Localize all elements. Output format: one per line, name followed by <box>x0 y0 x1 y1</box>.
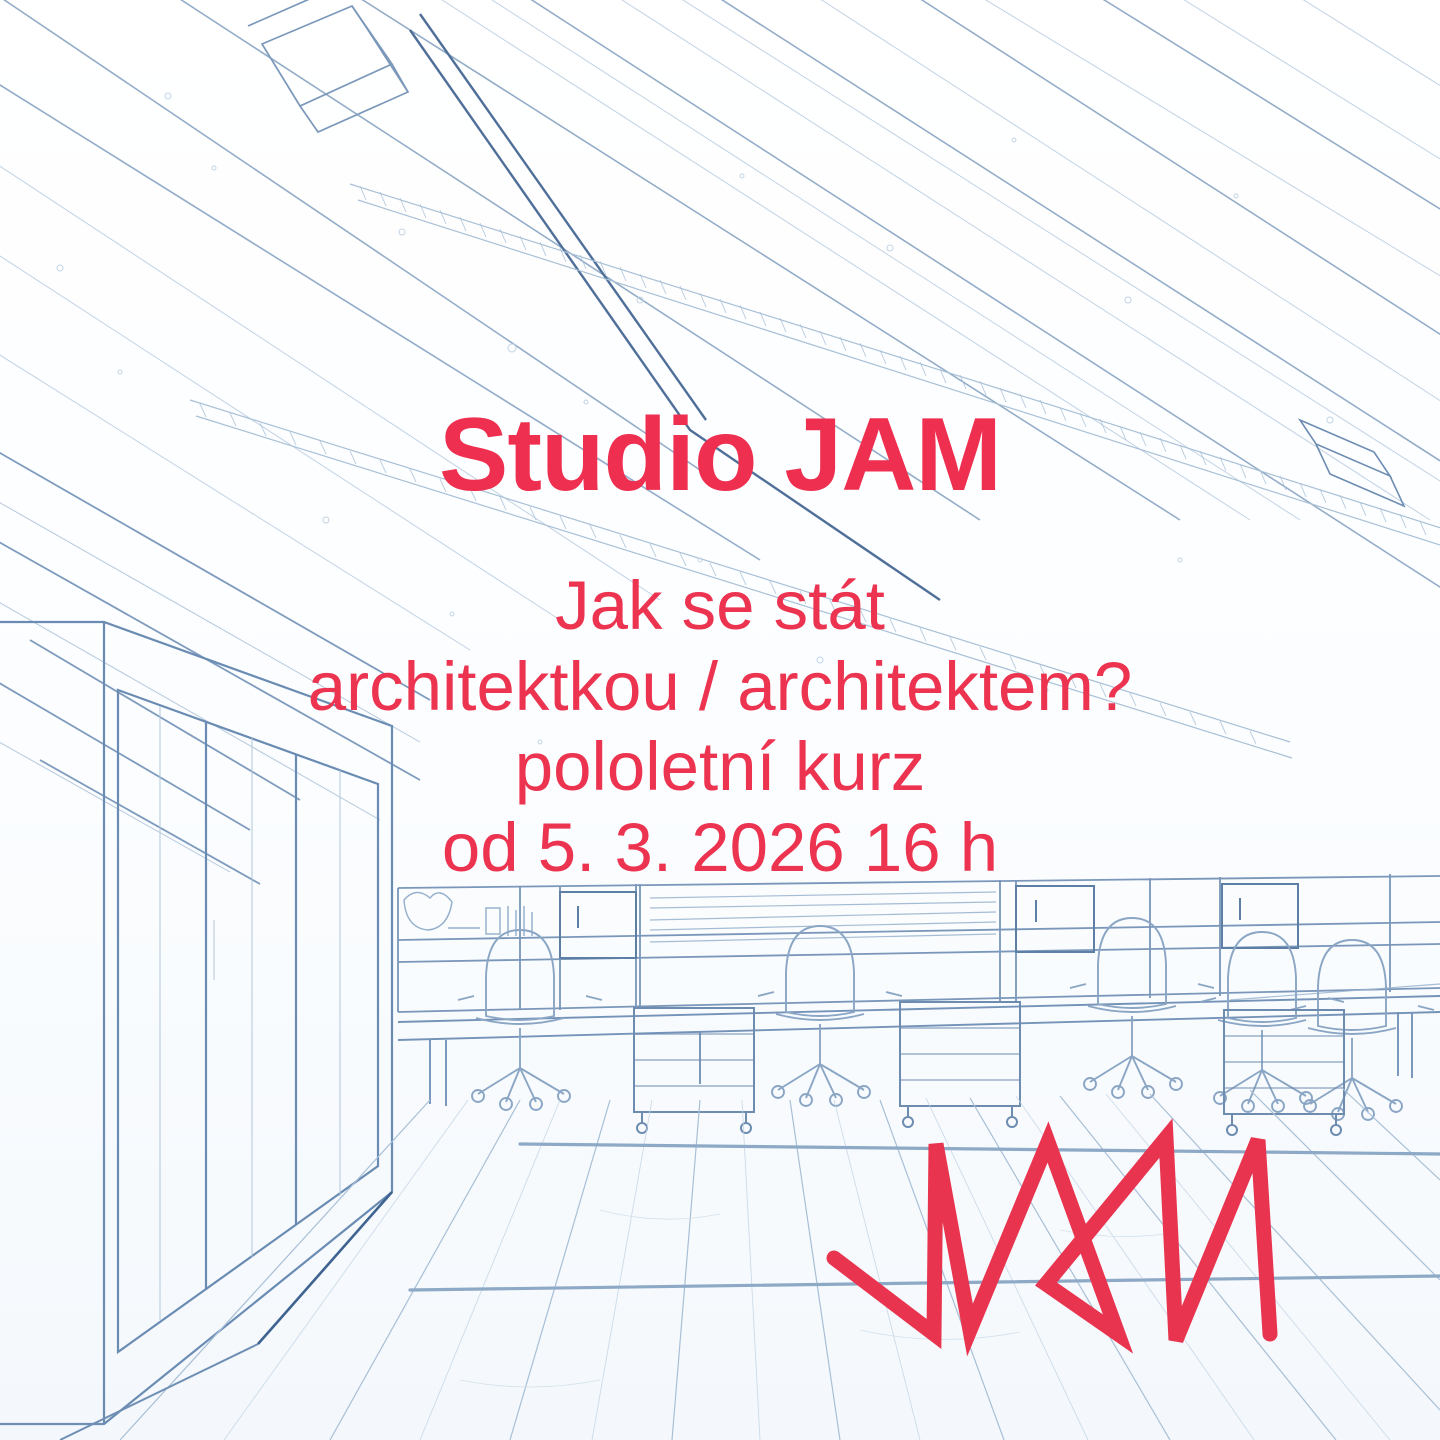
jam-logo <box>818 1118 1358 1368</box>
jam-logo-stroke <box>834 1138 1270 1340</box>
poster-canvas: Studio JAM Jak se stát architektkou / ar… <box>0 0 1440 1440</box>
